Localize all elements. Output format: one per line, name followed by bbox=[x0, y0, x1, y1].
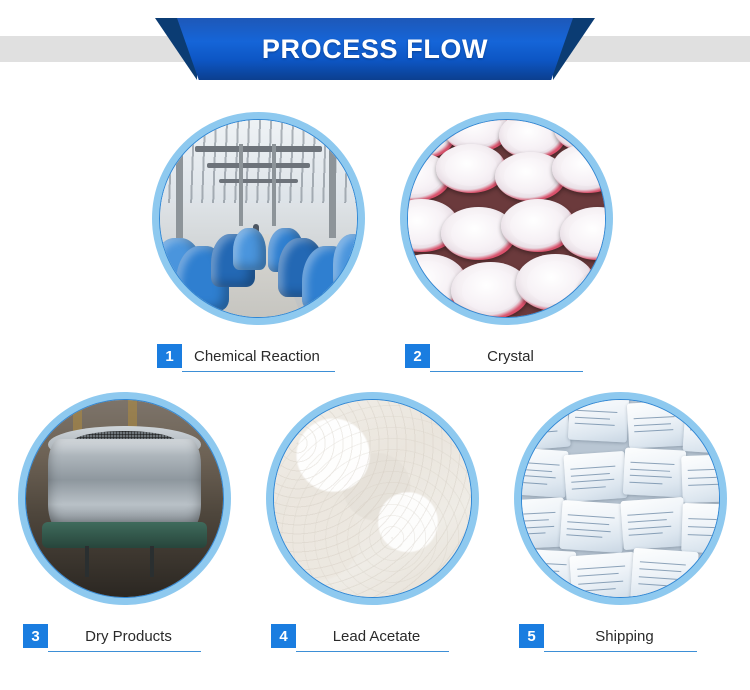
step-label-2: Crystal bbox=[430, 344, 583, 368]
step-rule-5 bbox=[544, 651, 697, 652]
step-badge-1: 1 bbox=[157, 344, 182, 368]
step-rule-1 bbox=[182, 371, 335, 372]
step-caption-1: 1 Chemical Reaction bbox=[157, 344, 335, 378]
stacked-product-bags-photo bbox=[522, 400, 719, 597]
step-image-circle-1 bbox=[152, 112, 365, 325]
step-label-5: Shipping bbox=[544, 624, 697, 648]
step-rule-3 bbox=[48, 651, 201, 652]
red-basins-white-crystal-photo bbox=[408, 120, 605, 317]
page-header: PROCESS FLOW bbox=[0, 0, 750, 92]
step-image-circle-5 bbox=[514, 392, 727, 605]
step-image-circle-4 bbox=[266, 392, 479, 605]
step-label-4: Lead Acetate bbox=[296, 624, 449, 648]
step-rule-2 bbox=[430, 371, 583, 372]
stainless-centrifuge-dryer-photo bbox=[26, 400, 223, 597]
white-powder-photo bbox=[274, 400, 471, 597]
step-badge-4: 4 bbox=[271, 624, 296, 648]
step-label-1: Chemical Reaction bbox=[182, 344, 335, 368]
step-caption-3: 3 Dry Products bbox=[23, 624, 201, 658]
factory-reactor-vessels-photo bbox=[160, 120, 357, 317]
step-badge-5: 5 bbox=[519, 624, 544, 648]
step-rule-4 bbox=[296, 651, 449, 652]
step-label-3: Dry Products bbox=[48, 624, 201, 648]
step-caption-4: 4 Lead Acetate bbox=[271, 624, 449, 658]
step-badge-2: 2 bbox=[405, 344, 430, 368]
ribbon-body: PROCESS FLOW bbox=[177, 18, 573, 80]
step-badge-3: 3 bbox=[23, 624, 48, 648]
step-caption-5: 5 Shipping bbox=[519, 624, 697, 658]
step-image-circle-3 bbox=[18, 392, 231, 605]
step-caption-2: 2 Crystal bbox=[405, 344, 583, 378]
title-ribbon: PROCESS FLOW bbox=[155, 18, 595, 80]
step-image-circle-2 bbox=[400, 112, 613, 325]
page-title: PROCESS FLOW bbox=[262, 34, 488, 65]
